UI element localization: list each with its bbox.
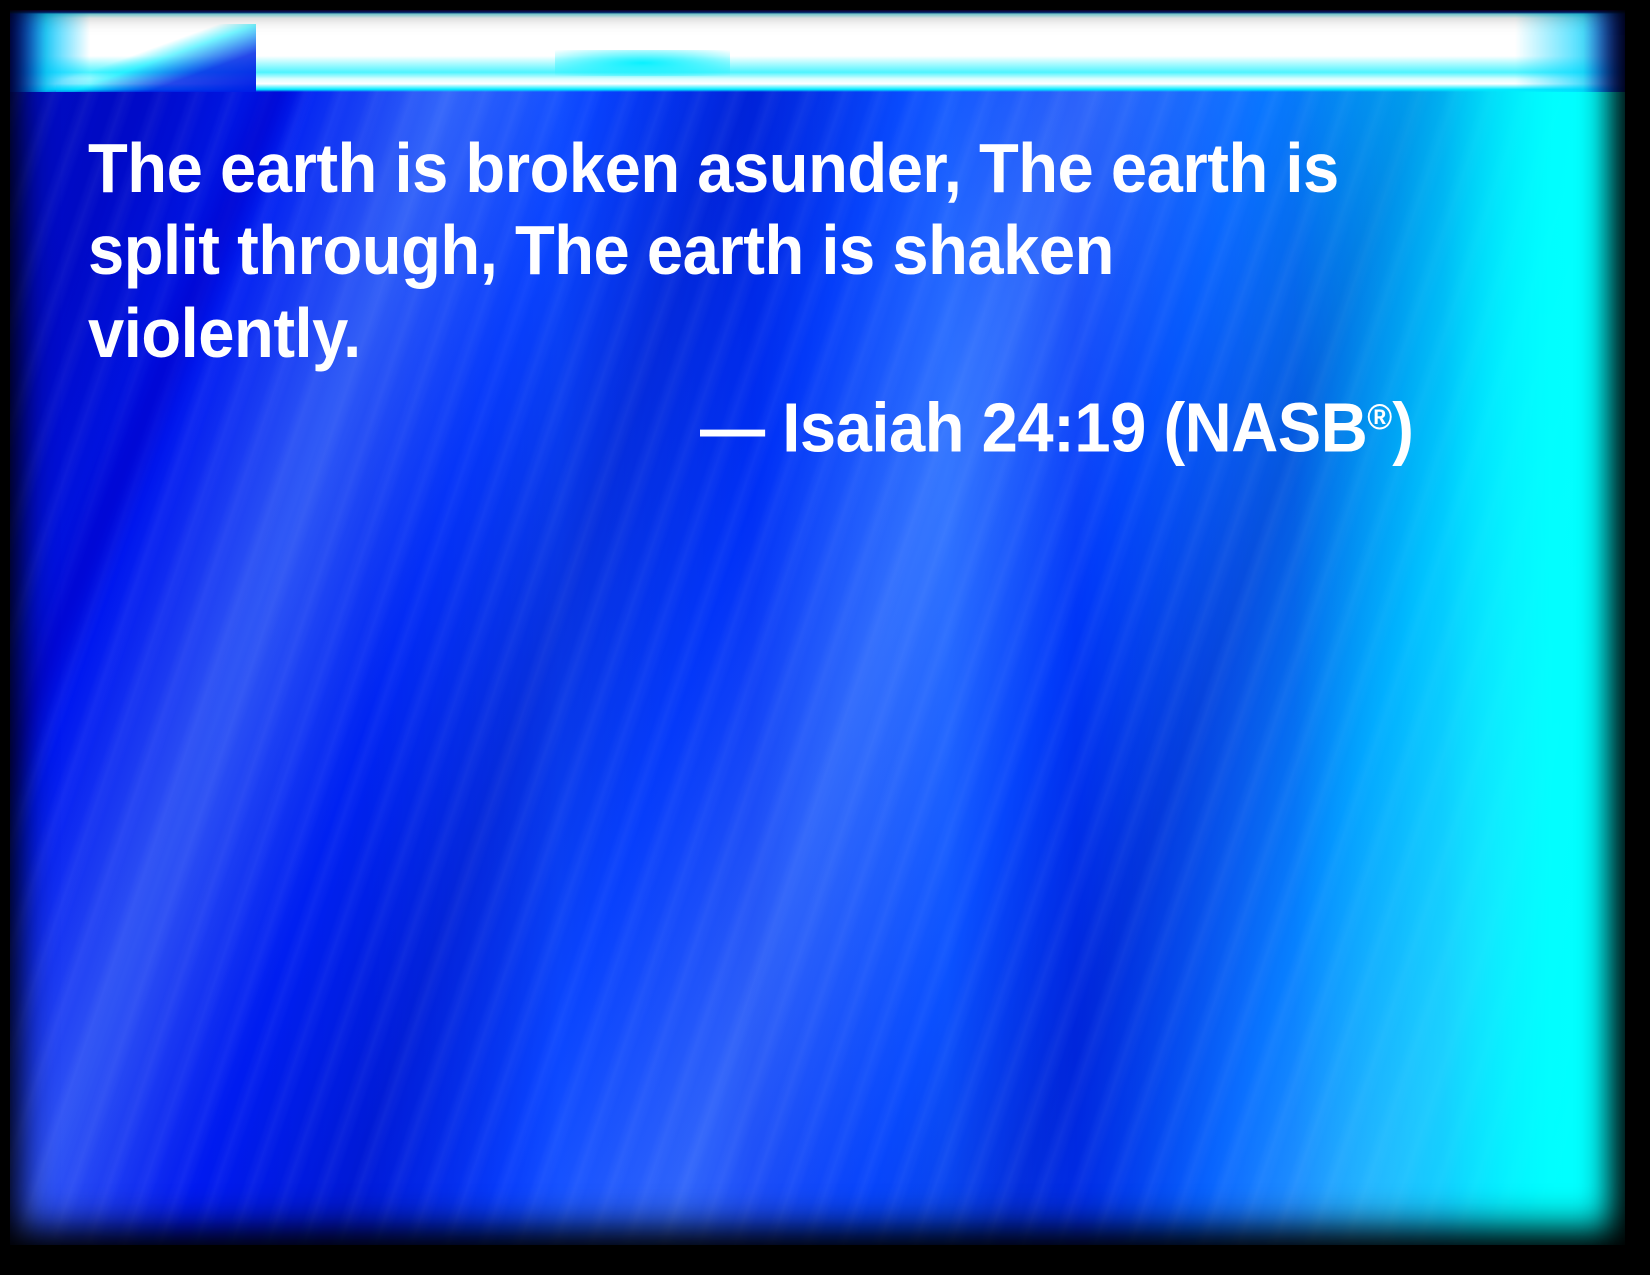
attribution-suffix: ) (1392, 389, 1413, 467)
verse-attribution: — Isaiah 24:19 (NASB®) (700, 382, 1413, 463)
text-layer: The earth is broken asunder, The earth i… (10, 10, 1625, 1245)
slide-artboard: The earth is broken asunder, The earth i… (10, 10, 1625, 1245)
verse-slide: The earth is broken asunder, The earth i… (0, 0, 1650, 1275)
verse-line-1: The earth is broken asunder, The earth i… (88, 133, 1339, 203)
verse-line-3: violently. (88, 298, 361, 368)
verse-line-2: split through, The earth is shaken (88, 215, 1114, 285)
attribution-prefix: — Isaiah 24:19 (NASB (700, 389, 1367, 467)
registered-trademark-icon: ® (1367, 396, 1392, 437)
